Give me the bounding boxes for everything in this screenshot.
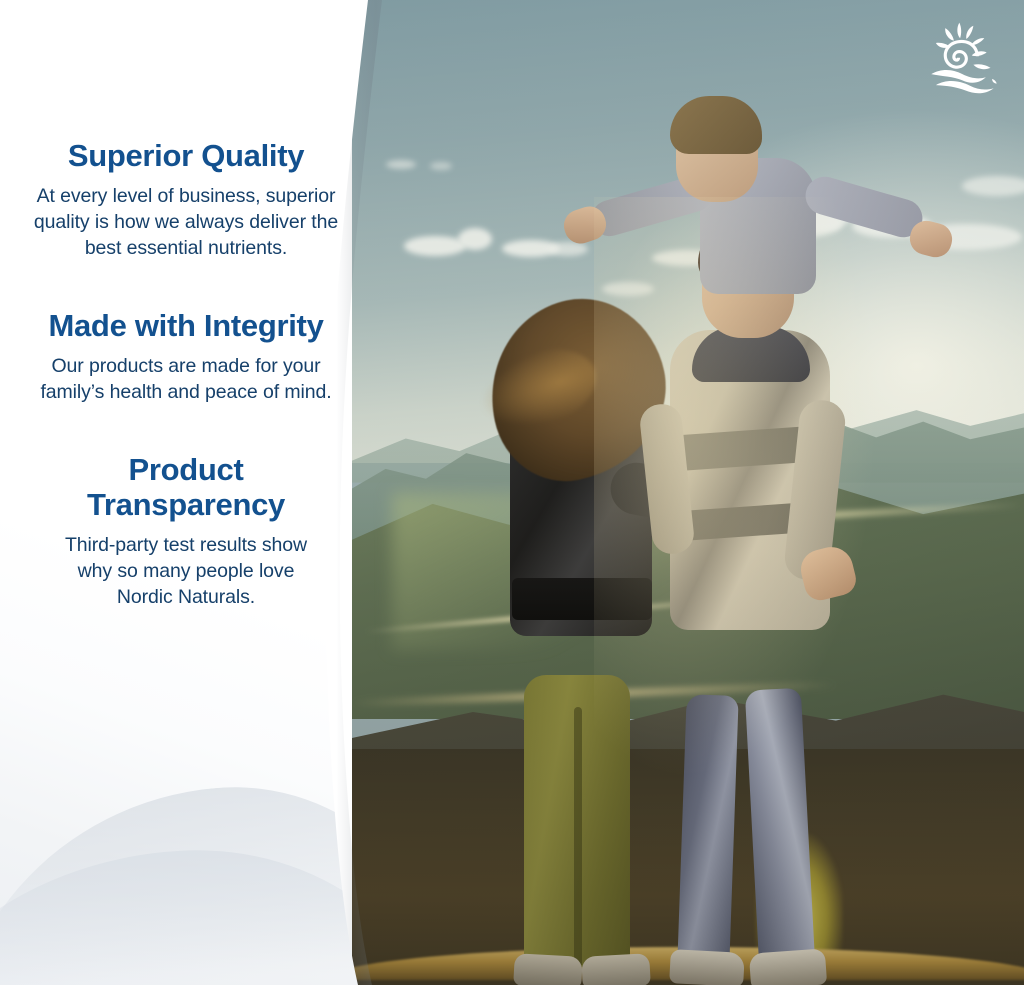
- mother-leg-seam: [574, 707, 582, 967]
- value-prop-heading: Made with Integrity: [28, 308, 344, 344]
- value-prop-product-transparency: Product Transparency Third-party test re…: [28, 452, 344, 612]
- value-prop-body: Our products are made for your family’s …: [36, 354, 336, 406]
- child-hair: [670, 96, 762, 154]
- value-prop-heading: Product Transparency: [28, 452, 344, 524]
- promo-banner: Superior Quality At every level of busin…: [0, 0, 1024, 985]
- value-prop-heading: Superior Quality: [28, 138, 344, 174]
- cloud: [386, 160, 416, 169]
- father-shoe-right: [749, 948, 827, 985]
- cloud: [404, 236, 466, 256]
- father-leg-left: [677, 694, 738, 966]
- cloud: [430, 162, 452, 170]
- value-prop-body: Third-party test results show why so man…: [50, 533, 322, 611]
- cloud: [962, 176, 1024, 196]
- mother-shoe-left: [513, 953, 583, 985]
- mother-jacket-hem: [512, 578, 652, 620]
- mother-shoe-right: [581, 953, 651, 985]
- sun-wave-logo-icon: [924, 18, 1004, 96]
- photo-scene: [352, 0, 1024, 985]
- value-props-column: Superior Quality At every level of busin…: [0, 0, 372, 985]
- father-shoe-left: [669, 949, 745, 985]
- value-prop-made-with-integrity: Made with Integrity Our products are mad…: [28, 308, 344, 406]
- cloud: [602, 282, 654, 296]
- cloud: [548, 242, 588, 256]
- value-prop-superior-quality: Superior Quality At every level of busin…: [28, 138, 344, 262]
- cloud: [458, 228, 492, 250]
- value-prop-body: At every level of business, superior qua…: [28, 184, 344, 262]
- family-lifestyle-photo: [352, 0, 1024, 985]
